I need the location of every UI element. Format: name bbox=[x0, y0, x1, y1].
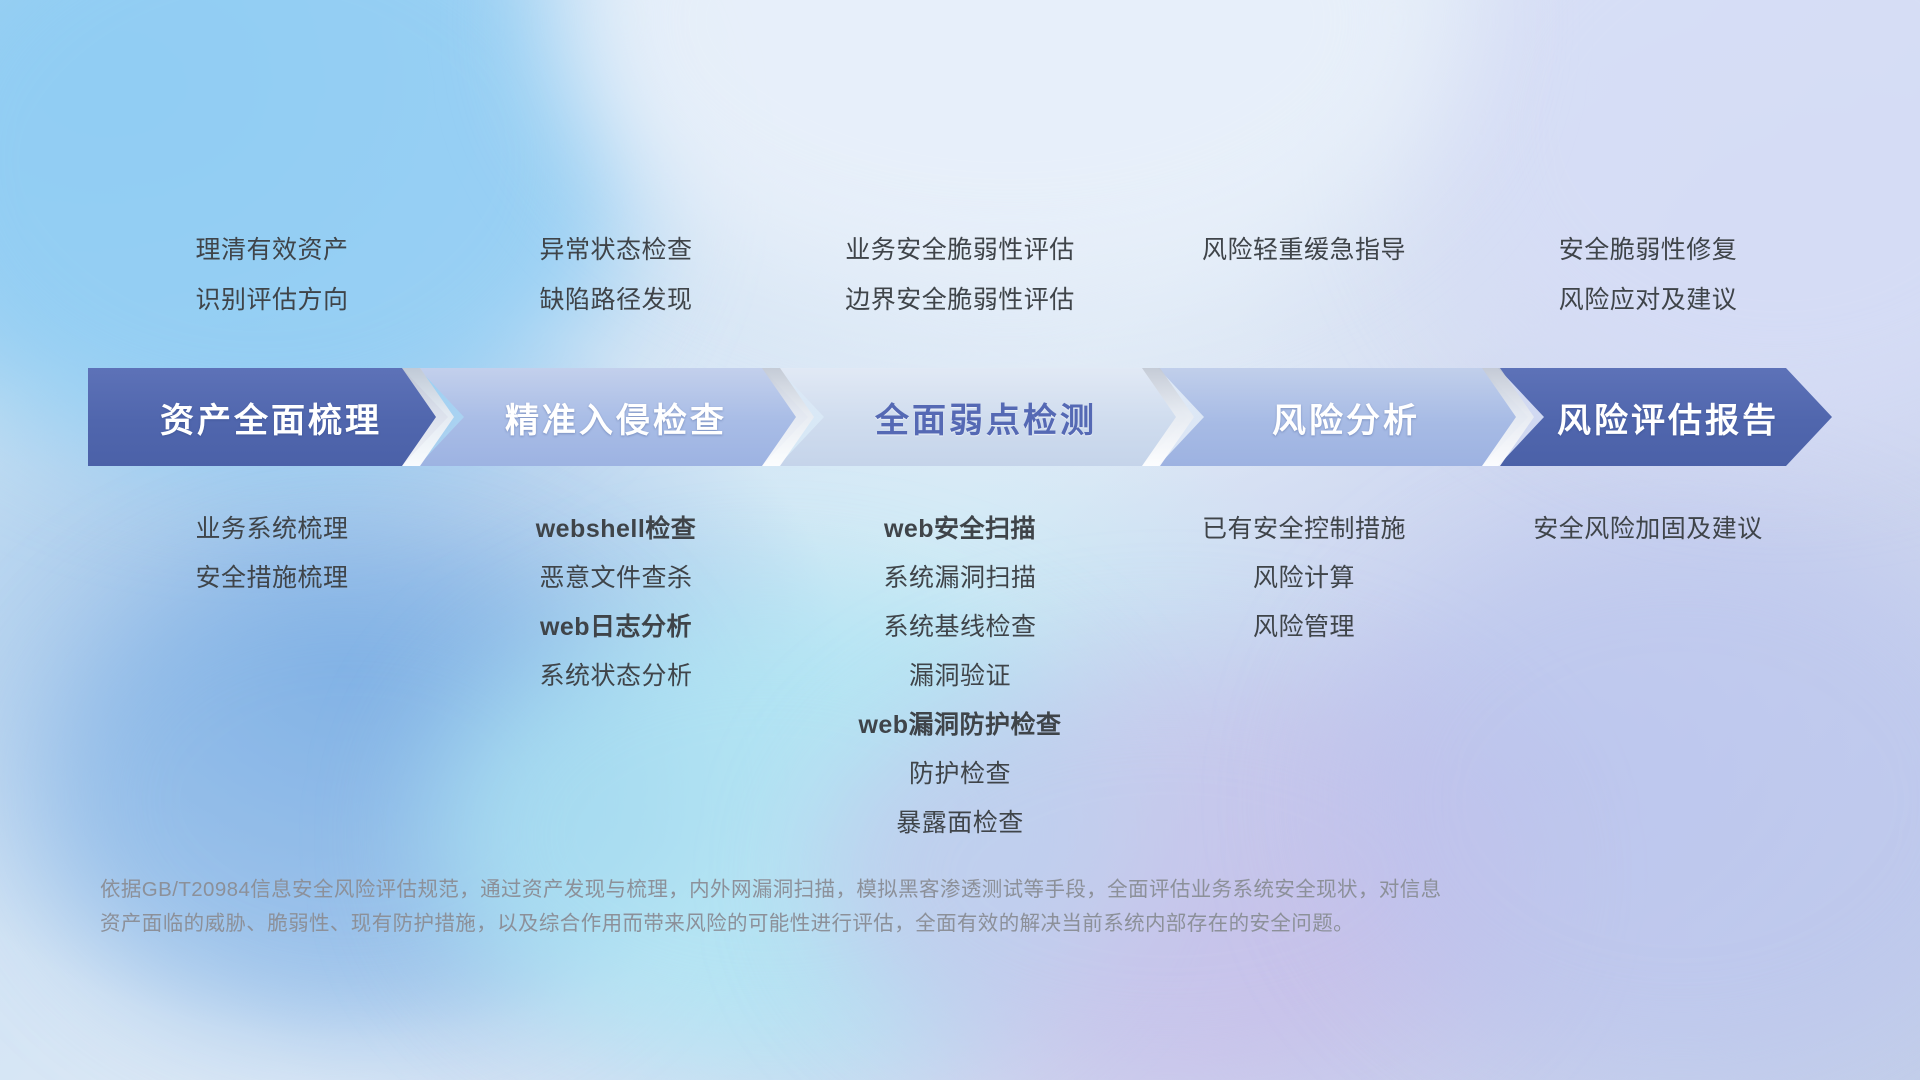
list-item: 安全措施梳理 bbox=[100, 554, 444, 603]
process-chevron-band: 资产全面梳理 精准入侵检查 全面弱点检测 风险分析 风险评估报告 bbox=[88, 368, 1832, 466]
list-item: web漏洞防护检查 bbox=[788, 701, 1132, 750]
list-item: web安全扫描 bbox=[788, 505, 1132, 554]
chevron-label: 风险评估报告 bbox=[1551, 393, 1779, 442]
bottom-list-risk-analysis: 已有安全控制措施 风险计算 风险管理 bbox=[1132, 505, 1476, 848]
top-label: 异常状态检查 bbox=[444, 225, 788, 275]
chevron-label: 风险分析 bbox=[1266, 393, 1420, 442]
list-item: 防护检查 bbox=[788, 750, 1132, 799]
list-item: 恶意文件查杀 bbox=[444, 554, 788, 603]
chevron-assessment-report[interactable]: 风险评估报告 bbox=[1498, 368, 1832, 466]
top-label: 识别评估方向 bbox=[100, 275, 444, 325]
list-item: 系统状态分析 bbox=[444, 652, 788, 701]
chevron-risk-analysis[interactable]: 风险分析 bbox=[1158, 368, 1528, 466]
bottom-list-assessment-report: 安全风险加固及建议 bbox=[1476, 505, 1820, 848]
list-item: 风险计算 bbox=[1132, 554, 1476, 603]
footer-line: 依据GB/T20984信息安全风险评估规范，通过资产发现与梳理，内外网漏洞扫描，… bbox=[100, 873, 1640, 907]
bottom-list-asset-inventory: 业务系统梳理 安全措施梳理 bbox=[100, 505, 444, 848]
bottom-list-weakness-detection: web安全扫描 系统漏洞扫描 系统基线检查 漏洞验证 web漏洞防护检查 防护检… bbox=[788, 505, 1132, 848]
list-item: 风险管理 bbox=[1132, 603, 1476, 652]
list-item: web日志分析 bbox=[444, 603, 788, 652]
top-labels-intrusion-check: 异常状态检查 缺陷路径发现 bbox=[444, 225, 788, 325]
bottom-list-intrusion-check: webshell检查 恶意文件查杀 web日志分析 系统状态分析 bbox=[444, 505, 788, 848]
top-label: 风险应对及建议 bbox=[1476, 275, 1820, 325]
top-label: 边界安全脆弱性评估 bbox=[788, 275, 1132, 325]
top-label: 业务安全脆弱性评估 bbox=[788, 225, 1132, 275]
list-item: 安全风险加固及建议 bbox=[1476, 505, 1820, 554]
list-item: webshell检查 bbox=[444, 505, 788, 554]
top-label: 安全脆弱性修复 bbox=[1476, 225, 1820, 275]
top-labels-risk-analysis: 风险轻重缓急指导 bbox=[1132, 225, 1476, 325]
chevron-weakness-detection[interactable]: 全面弱点检测 bbox=[778, 368, 1188, 466]
list-item: 漏洞验证 bbox=[788, 652, 1132, 701]
footer-description: 依据GB/T20984信息安全风险评估规范，通过资产发现与梳理，内外网漏洞扫描，… bbox=[100, 873, 1640, 941]
list-item: 业务系统梳理 bbox=[100, 505, 444, 554]
bottom-detail-row: 业务系统梳理 安全措施梳理 webshell检查 恶意文件查杀 web日志分析 … bbox=[100, 505, 1820, 848]
top-labels-assessment-report: 安全脆弱性修复 风险应对及建议 bbox=[1476, 225, 1820, 325]
list-item: 已有安全控制措施 bbox=[1132, 505, 1476, 554]
top-labels-asset-inventory: 理清有效资产 识别评估方向 bbox=[100, 225, 444, 325]
chevron-asset-inventory[interactable]: 资产全面梳理 bbox=[88, 368, 448, 466]
chevron-label: 精准入侵检查 bbox=[499, 393, 727, 442]
chevron-label: 资产全面梳理 bbox=[154, 393, 382, 442]
slide-canvas: 理清有效资产 识别评估方向 异常状态检查 缺陷路径发现 业务安全脆弱性评估 边界… bbox=[0, 0, 1920, 1080]
top-label-row: 理清有效资产 识别评估方向 异常状态检查 缺陷路径发现 业务安全脆弱性评估 边界… bbox=[100, 225, 1820, 325]
chevron-intrusion-check[interactable]: 精准入侵检查 bbox=[418, 368, 808, 466]
footer-line: 资产面临的威胁、脆弱性、现有防护措施，以及综合作用而带来风险的可能性进行评估，全… bbox=[100, 907, 1640, 941]
list-item: 暴露面检查 bbox=[788, 799, 1132, 848]
top-label: 缺陷路径发现 bbox=[444, 275, 788, 325]
chevron-label: 全面弱点检测 bbox=[869, 393, 1097, 442]
list-item: 系统漏洞扫描 bbox=[788, 554, 1132, 603]
top-labels-weakness-detection: 业务安全脆弱性评估 边界安全脆弱性评估 bbox=[788, 225, 1132, 325]
list-item: 系统基线检查 bbox=[788, 603, 1132, 652]
top-label: 风险轻重缓急指导 bbox=[1132, 225, 1476, 275]
top-label: 理清有效资产 bbox=[100, 225, 444, 275]
